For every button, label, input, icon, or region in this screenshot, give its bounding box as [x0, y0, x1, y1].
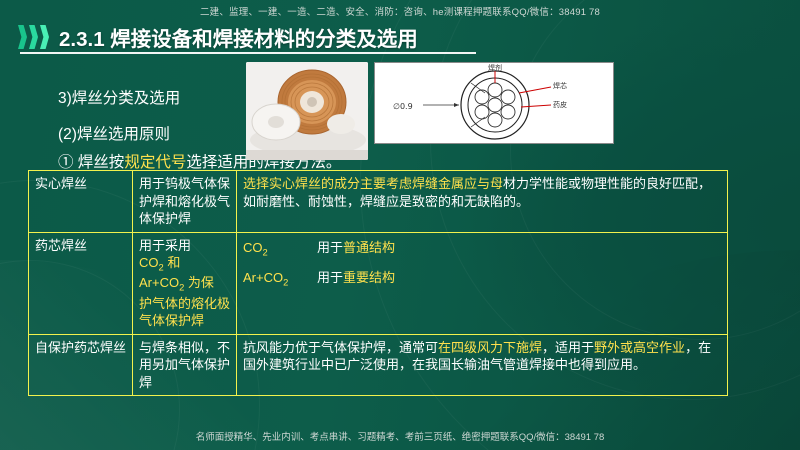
usage-suffix: 护气体的熔化极气体保护焊 [139, 296, 230, 329]
cell-solid-wire-note: 选择实心焊丝的成分主要考虑焊缝金属应与母材力学性能或物理性能的良好匹配，如耐磨性… [237, 171, 728, 233]
gas-structure-subtable: CO2 用于普通结构 Ar+CO2 用于重要结构 [243, 237, 721, 291]
cell-self-shielded-note: 抗风能力优于气体保护焊，通常可在四级风力下施焊，适用于野外或高空作业，在国外建筑… [237, 334, 728, 396]
bottom-advertisement-text: 名师面授精华、先业内训、考点串讲、习题精考、考前三页纸、绝密押题联系QQ/微信：… [0, 429, 800, 443]
cell-flux-cored-usage: 用于采用 CO2 和 Ar+CO2 为保 护气体的熔化极气体保护焊 [133, 232, 237, 334]
table-row: 药芯焊丝 用于采用 CO2 和 Ar+CO2 为保 护气体的熔化极气体保护焊 C… [29, 232, 728, 334]
note-highlight: 选择实心焊丝的成分主要考虑焊缝金属应与母 [243, 176, 503, 191]
gas-arco2-label: Ar+CO2 [243, 261, 317, 291]
slide-title-row: 2.3.1 焊接设备和焊接材料的分类及选用 [18, 22, 778, 52]
usage-gas-co2: CO2 和 [139, 255, 180, 270]
svg-text:焊剂: 焊剂 [488, 63, 502, 72]
subheading-wire-classification: 3)焊丝分类及选用 [58, 86, 180, 108]
table-row: 实心焊丝 用于钨极气体保护焊和熔化极气体保护焊 选择实心焊丝的成分主要考虑焊缝金… [29, 171, 728, 233]
note-run-2: 在四级风力下施焊 [438, 340, 542, 355]
gas-co2-label: CO2 [243, 237, 317, 261]
svg-text:药皮: 药皮 [553, 100, 567, 109]
usage-prefix: 用于采用 [139, 238, 191, 253]
page-title: 2.3.1 焊接设备和焊接材料的分类及选用 [59, 22, 418, 52]
subtable-row: CO2 用于普通结构 [243, 237, 721, 261]
title-underline [20, 52, 476, 54]
flux-cored-wire-cross-section-diagram: 焊剂 焊芯 药皮 ∅0.9 [374, 62, 614, 144]
sub3-prefix: ① 焊丝按 [58, 154, 124, 171]
top-advertisement-text: 二建、监理、一建、一造、二造、安全、消防：咨询、he测课程押题联系QQ/微信：3… [0, 4, 800, 18]
note-run-4: 野外或高空作业 [594, 340, 685, 355]
gas-co2-value: 用于普通结构 [317, 237, 721, 261]
cell-self-shielded-name: 自保护药芯焊丝 [29, 334, 133, 396]
wire-types-table: 实心焊丝 用于钨极气体保护焊和熔化极气体保护焊 选择实心焊丝的成分主要考虑焊缝金… [28, 170, 728, 396]
svg-text:∅0.9: ∅0.9 [393, 102, 413, 111]
welding-wire-spool-photo [246, 62, 368, 160]
subtable-row: Ar+CO2 用于重要结构 [243, 261, 721, 291]
gas-arco2-value: 用于重要结构 [317, 261, 721, 291]
sub3-highlight: 规定代号 [124, 154, 186, 171]
subheading-selection-principle: (2)焊丝选用原则 [58, 122, 170, 144]
table-row: 自保护药芯焊丝 与焊条相似，不用另加气体保护焊 抗风能力优于气体保护焊，通常可在… [29, 334, 728, 396]
note-run-3: ，适用于 [542, 340, 594, 355]
cell-flux-cored-name: 药芯焊丝 [29, 232, 133, 334]
usage-gas-arco2: Ar+CO2 为保 [139, 275, 214, 290]
cell-flux-cored-gas-table: CO2 用于普通结构 Ar+CO2 用于重要结构 [237, 232, 728, 334]
cell-solid-wire-name: 实心焊丝 [29, 171, 133, 233]
svg-text:焊芯: 焊芯 [553, 81, 567, 90]
chevron-right-icon [18, 25, 51, 49]
cell-self-shielded-usage: 与焊条相似，不用另加气体保护焊 [133, 334, 237, 396]
note-run-1: 抗风能力优于气体保护焊，通常可 [243, 340, 438, 355]
cell-solid-wire-usage: 用于钨极气体保护焊和熔化极气体保护焊 [133, 171, 237, 233]
